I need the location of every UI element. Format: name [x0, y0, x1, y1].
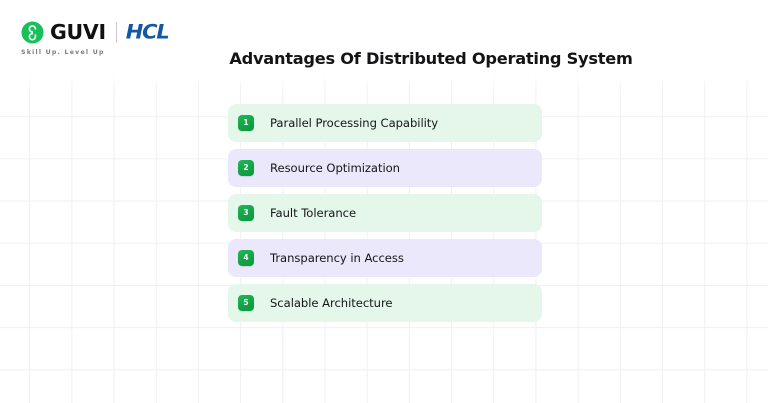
- advantages-list: 1 Parallel Processing Capability 2 Resou…: [228, 104, 542, 322]
- list-item-label: Resource Optimization: [270, 160, 400, 176]
- slide-canvas: GUVI HCL Skill Up. Level Up Advantages O…: [0, 0, 768, 403]
- page-title: Advantages Of Distributed Operating Syst…: [0, 49, 768, 69]
- list-item[interactable]: 1 Parallel Processing Capability: [228, 104, 542, 142]
- list-item-number-badge: 5: [238, 295, 254, 311]
- list-item-number-badge: 2: [238, 160, 254, 176]
- list-item-label: Parallel Processing Capability: [270, 115, 438, 131]
- list-item-label: Fault Tolerance: [270, 205, 356, 221]
- guvi-wordmark: GUVI: [50, 21, 106, 44]
- list-item-number-badge: 3: [238, 205, 254, 221]
- list-item-number-badge: 1: [238, 115, 254, 131]
- list-item-number-badge: 4: [238, 250, 254, 266]
- brand-divider: [116, 22, 117, 43]
- brand-row: GUVI HCL: [21, 19, 169, 45]
- list-item[interactable]: 2 Resource Optimization: [228, 149, 542, 187]
- list-item[interactable]: 4 Transparency in Access: [228, 239, 542, 277]
- list-item[interactable]: 3 Fault Tolerance: [228, 194, 542, 232]
- guvi-g-mark-icon: [21, 21, 44, 44]
- list-item-label: Scalable Architecture: [270, 295, 393, 311]
- list-item-label: Transparency in Access: [270, 250, 404, 266]
- hcl-wordmark: HCL: [126, 21, 169, 42]
- list-item[interactable]: 5 Scalable Architecture: [228, 284, 542, 322]
- slide-header: GUVI HCL Skill Up. Level Up Advantages O…: [0, 0, 768, 78]
